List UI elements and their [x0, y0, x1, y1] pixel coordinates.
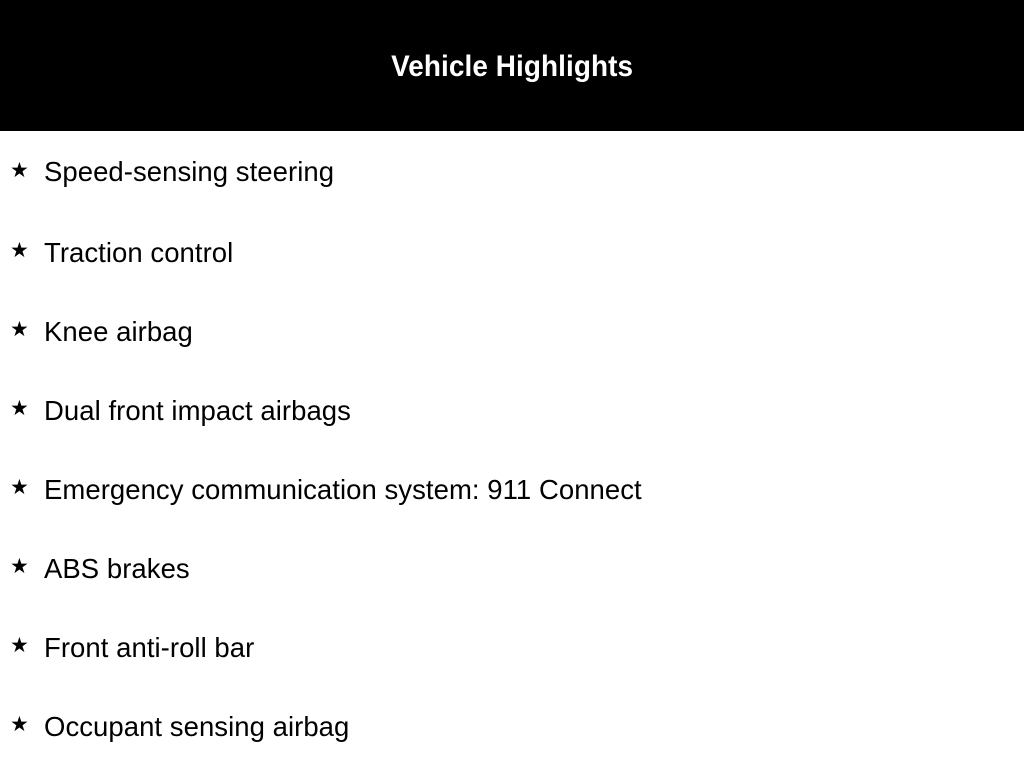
vehicle-highlights-page: Vehicle Highlights ★ Speed-sensing steer…	[0, 0, 1024, 768]
list-item: ★ ABS brakes	[0, 529, 1024, 608]
list-item-label: Emergency communication system: 911 Conn…	[44, 474, 642, 506]
star-icon: ★	[10, 319, 44, 340]
list-item-label: Traction control	[44, 237, 233, 269]
list-item-label: Occupant sensing airbag	[44, 711, 349, 743]
list-item-label: ABS brakes	[44, 553, 190, 585]
star-icon: ★	[10, 635, 44, 656]
star-icon: ★	[10, 398, 44, 419]
star-icon: ★	[10, 160, 44, 181]
list-item: ★ Front anti-roll bar	[0, 608, 1024, 687]
page-header: Vehicle Highlights	[0, 0, 1024, 131]
list-item: ★ Dual front impact airbags	[0, 371, 1024, 450]
list-item-label: Dual front impact airbags	[44, 395, 351, 427]
star-icon: ★	[10, 240, 44, 261]
star-icon: ★	[10, 714, 44, 735]
star-icon: ★	[10, 556, 44, 577]
list-item: ★ Knee airbag	[0, 292, 1024, 371]
list-item: ★ Speed-sensing steering	[0, 131, 1024, 213]
list-item: ★ Traction control	[0, 213, 1024, 292]
star-icon: ★	[10, 477, 44, 498]
page-title: Vehicle Highlights	[391, 52, 633, 82]
list-item-label: Front anti-roll bar	[44, 632, 254, 664]
list-item-label: Knee airbag	[44, 316, 193, 348]
list-item-label: Speed-sensing steering	[44, 156, 334, 188]
list-item: ★ Emergency communication system: 911 Co…	[0, 450, 1024, 529]
list-item: ★ Occupant sensing airbag	[0, 687, 1024, 766]
vehicle-highlights-list: ★ Speed-sensing steering ★ Traction cont…	[0, 131, 1024, 766]
